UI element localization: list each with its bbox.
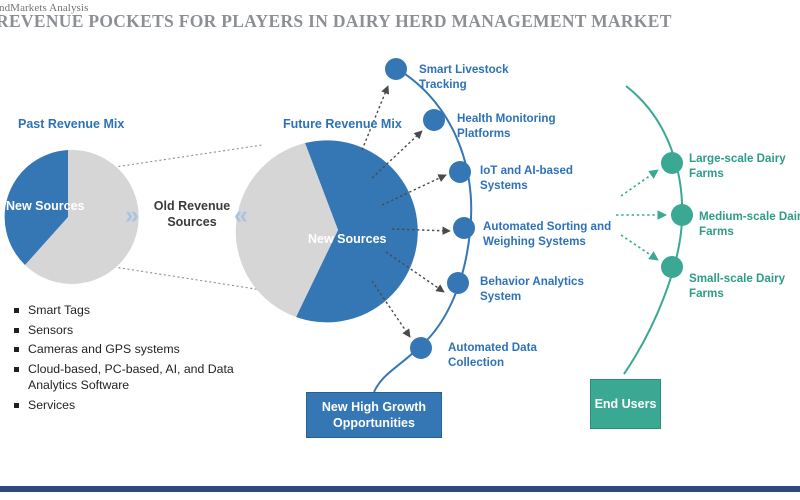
- diagram-canvas: andMarkets Analysis REVENUE POCKETS FOR …: [0, 0, 800, 500]
- end-users-box: End Users: [590, 379, 661, 429]
- label-automated-sorting-weighing: Automated Sorting and Weighing Systems: [483, 219, 615, 249]
- past-pie-new-sources-label: New Sources: [6, 199, 82, 214]
- label-smart-livestock-tracking: Smart Livestock Tracking: [419, 62, 551, 92]
- footer-bar: [0, 486, 800, 492]
- node-medium-scale-dairy-farms: [671, 204, 693, 226]
- node-smart-livestock-tracking: [385, 58, 407, 80]
- node-automated-sorting-weighing: [453, 217, 475, 239]
- new-high-growth-opportunities-box: New High Growth Opportunities: [306, 392, 442, 438]
- future-pie-new-sources-label: New Sources: [308, 232, 384, 247]
- old-revenue-sources-label: Old Revenue Sources: [146, 198, 238, 230]
- label-automated-data-collection: Automated Data Collection: [448, 340, 580, 370]
- past-revenue-mix-title: Past Revenue Mix: [18, 117, 124, 131]
- past-revenue-pie: [5, 150, 139, 284]
- node-large-scale-dairy-farms: [661, 152, 683, 174]
- future-revenue-mix-title: Future Revenue Mix: [283, 117, 402, 131]
- node-health-monitoring-platforms: [423, 109, 445, 131]
- list-item: Smart Tags: [6, 302, 256, 319]
- chevron-left-icon: «: [234, 203, 248, 228]
- past-revenue-source-list: Smart Tags Sensors Cameras and GPS syste…: [6, 302, 256, 416]
- list-item: Cloud-based, PC-based, AI, and Data Anal…: [6, 361, 256, 394]
- label-medium-scale-dairy-farms: Medium-scale Dairy Farms: [699, 209, 800, 239]
- label-small-scale-dairy-farms: Small-scale Dairy Farms: [689, 271, 800, 301]
- node-automated-data-collection: [410, 337, 432, 359]
- label-large-scale-dairy-farms: Large-scale Dairy Farms: [689, 151, 800, 181]
- end-user-arc: [624, 86, 682, 374]
- list-item: Services: [6, 397, 256, 414]
- list-item: Sensors: [6, 322, 256, 339]
- list-item: Cameras and GPS systems: [6, 341, 256, 358]
- label-iot-ai-systems: IoT and AI-based Systems: [480, 163, 612, 193]
- opportunity-arc-stem: [374, 350, 416, 392]
- label-behavior-analytics-system: Behavior Analytics System: [480, 274, 612, 304]
- node-iot-ai-systems: [449, 161, 471, 183]
- node-behavior-analytics-system: [447, 272, 469, 294]
- node-small-scale-dairy-farms: [661, 256, 683, 278]
- end-user-arrows: [616, 170, 666, 260]
- label-health-monitoring-platforms: Health Monitoring Platforms: [457, 111, 589, 141]
- chevron-right-icon: »: [125, 203, 139, 228]
